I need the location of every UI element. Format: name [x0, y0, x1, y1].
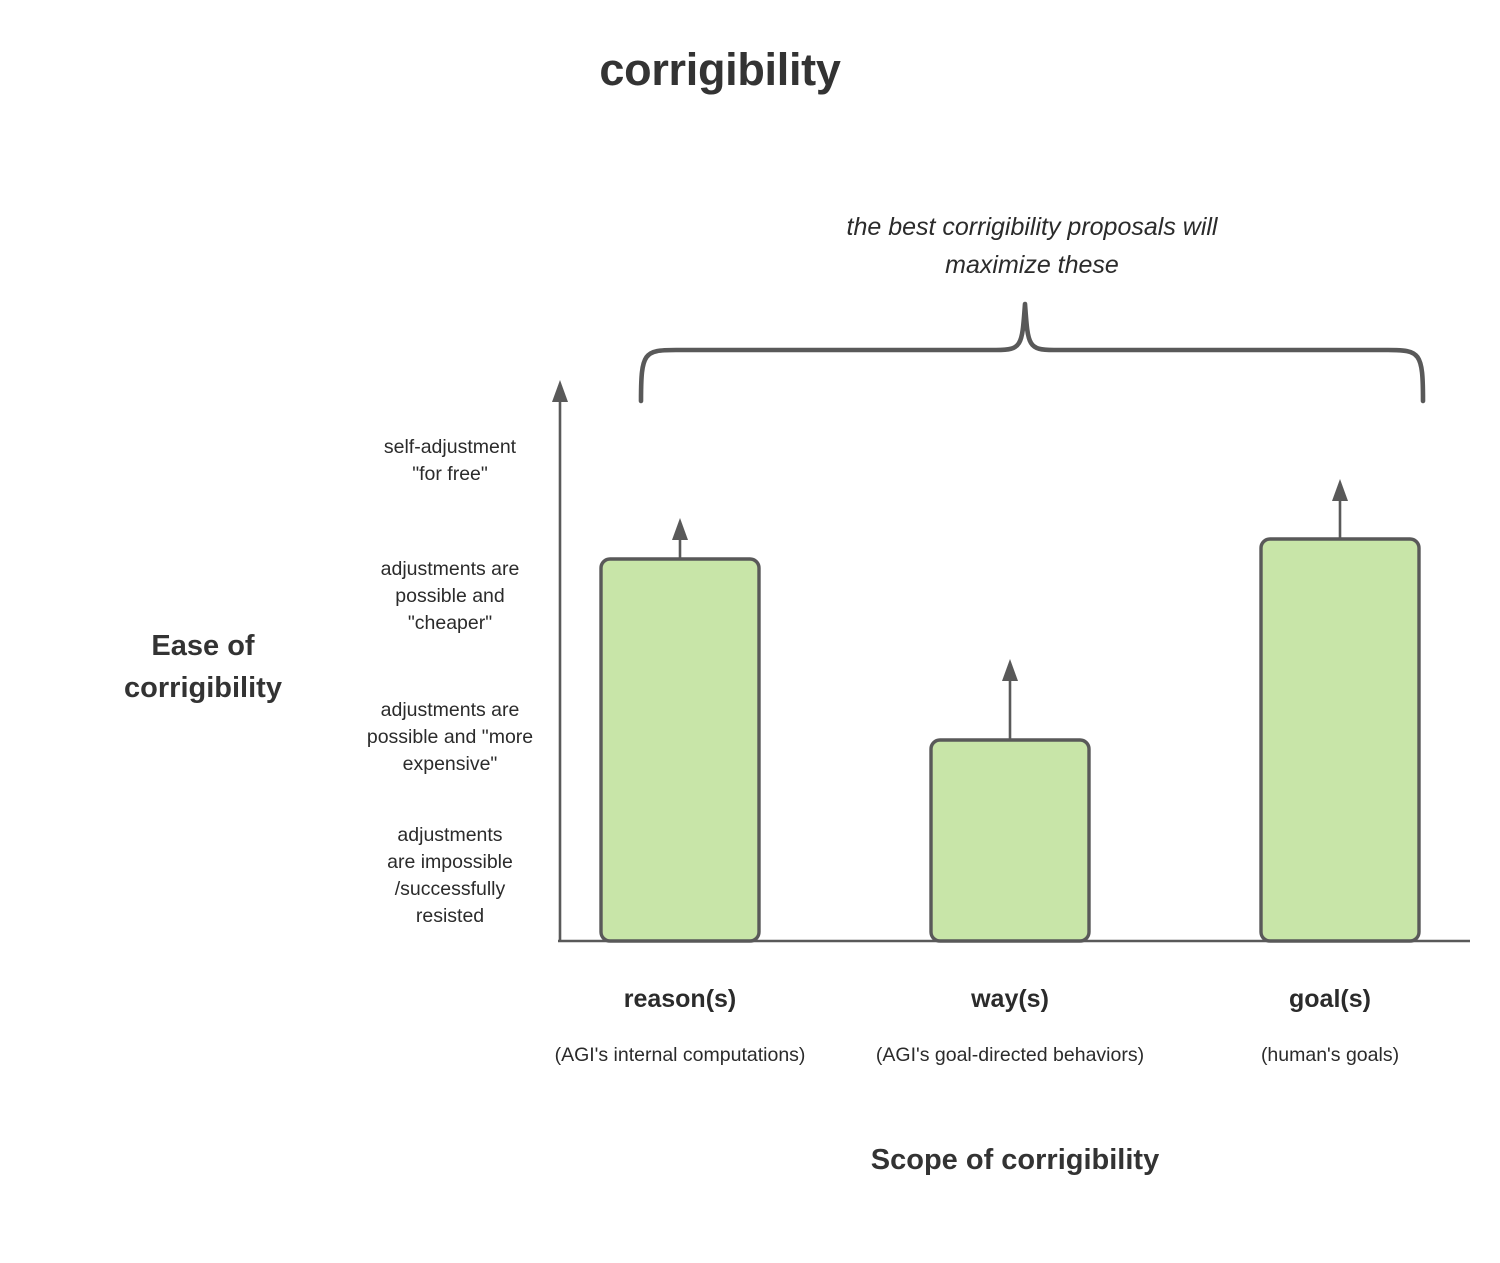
y-tier-3-line-1: adjustments — [358, 822, 542, 849]
y-tier-1-line-1: adjustments are — [358, 556, 542, 583]
y-tier-label-cheaper: adjustments are possible and "cheaper" — [358, 556, 542, 637]
y-axis-title-line-2: corrigibility — [58, 667, 348, 709]
y-tier-0-line-2: "for free" — [358, 461, 542, 488]
x-category-label-goals: goal(s) — [1150, 985, 1500, 1014]
y-tier-3-line-4: resisted — [358, 903, 542, 930]
x-axis-title: Scope of corrigibility — [560, 1144, 1470, 1177]
bar-ways-up-arrow — [1002, 659, 1018, 740]
y-tier-2-line-2: possible and "more — [358, 724, 542, 751]
y-tier-2-line-3: expensive" — [358, 751, 542, 778]
y-tier-0-line-1: self-adjustment — [358, 434, 542, 461]
x-category-subtitle-reasons: (AGI's internal computations) — [500, 1044, 860, 1067]
x-category-subtitle-ways: (AGI's goal-directed behaviors) — [830, 1044, 1190, 1067]
x-category-label-reasons: reason(s) — [500, 985, 860, 1014]
y-tier-label-self-adjustment: self-adjustment "for free" — [358, 434, 542, 488]
x-category-goals: goal(s) (human's goals) — [1150, 985, 1500, 1067]
bar-reasons-up-arrow — [672, 518, 688, 559]
y-axis-title-line-1: Ease of — [58, 625, 348, 667]
y-tier-1-line-3: "cheaper" — [358, 610, 542, 637]
y-tier-label-impossible: adjustments are impossible /successfully… — [358, 822, 542, 930]
x-category-ways: way(s) (AGI's goal-directed behaviors) — [830, 985, 1190, 1067]
x-category-reasons: reason(s) (AGI's internal computations) — [500, 985, 860, 1067]
bar-goals[interactable] — [1261, 539, 1419, 941]
y-tier-1-line-2: possible and — [358, 583, 542, 610]
bar-reasons[interactable] — [601, 559, 759, 941]
y-tier-3-line-3: /successfully — [358, 876, 542, 903]
brace-bracket — [641, 304, 1423, 401]
y-tier-label-more-expensive: adjustments are possible and "more expen… — [358, 697, 542, 778]
y-axis — [552, 380, 568, 941]
bar-ways[interactable] — [931, 740, 1089, 941]
y-tier-2-line-1: adjustments are — [358, 697, 542, 724]
y-tier-3-line-2: are impossible — [358, 849, 542, 876]
x-category-subtitle-goals: (human's goals) — [1150, 1044, 1500, 1067]
y-axis-title: Ease of corrigibility — [58, 625, 348, 709]
bar-goals-up-arrow — [1332, 479, 1348, 539]
x-category-label-ways: way(s) — [830, 985, 1190, 1014]
